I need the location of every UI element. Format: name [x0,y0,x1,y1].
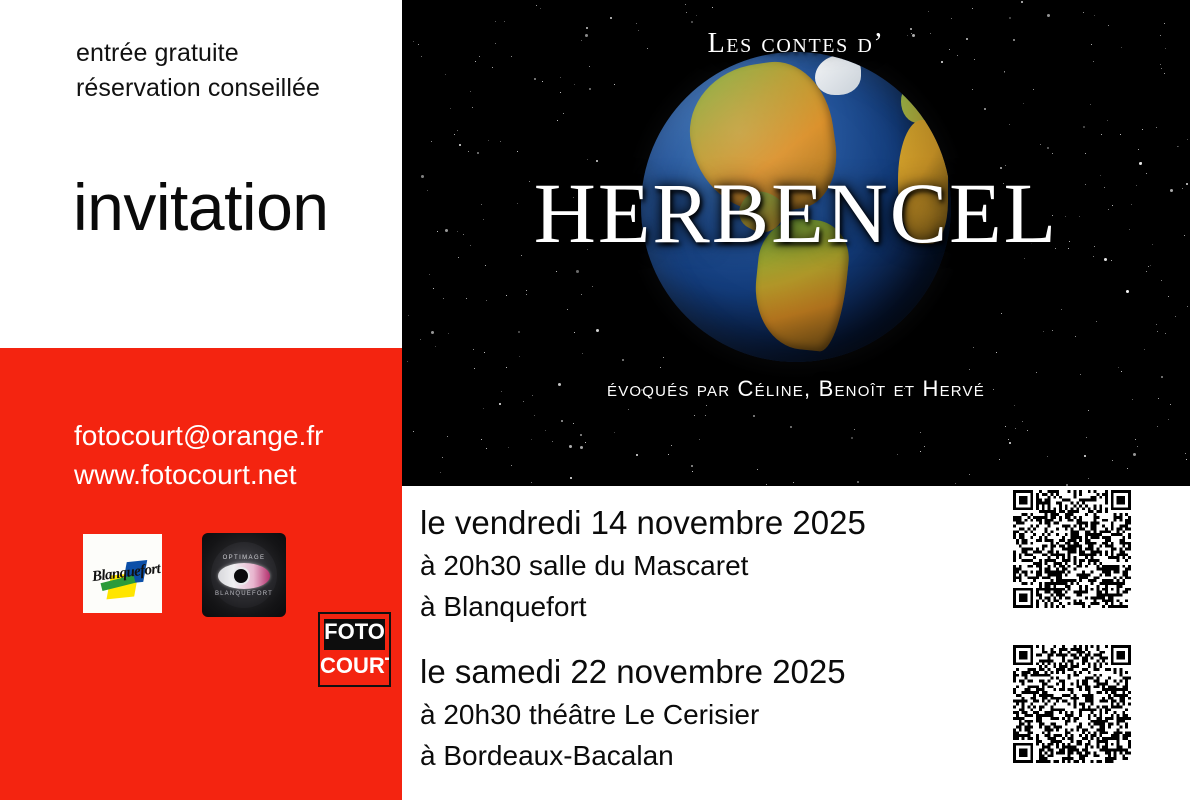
contact-text-block: fotocourt@orange.fr www.fotocourt.net [74,416,404,494]
qr-code-top-canvas [1013,490,1131,608]
qr-code-bottom-canvas [1013,645,1131,763]
qr-code-top[interactable] [1013,490,1131,608]
qr-code-bottom[interactable] [1013,645,1131,763]
hero-panel: Les contes d’ HERBENCEL évoqués par Céli… [402,0,1190,486]
hero-title: HERBENCEL [402,168,1190,258]
logo-camera-club: OPTIMAGE BLANQUEFORT [202,533,286,617]
fotocourt-line2: COURT [320,653,389,679]
camera-club-text-top: OPTIMAGE [202,555,286,561]
event-time-venue: à 20h30 salle du Mascaret [420,545,980,586]
website-link[interactable]: www.fotocourt.net [74,455,404,494]
event-date: le samedi 22 novembre 2025 [420,649,980,694]
email-link[interactable]: fotocourt@orange.fr [74,416,404,455]
contact-panel: fotocourt@orange.fr www.fotocourt.net [0,348,402,800]
event-city: à Blanquefort [420,586,980,627]
event-time-venue: à 20h30 théâtre Le Cerisier [420,694,980,735]
free-entry-line: entrée gratuite [76,36,406,71]
camera-club-text-bottom: BLANQUEFORT [202,591,286,597]
notice-panel: entrée gratuite réservation conseillée i… [0,0,402,348]
event-city: à Bordeaux-Bacalan [420,735,980,776]
notice-text-block: entrée gratuite réservation conseillée [76,36,406,106]
reservation-advised-line: réservation conseillée [76,71,406,106]
pupil-icon [232,567,250,585]
invitation-poster: entrée gratuite réservation conseillée i… [0,0,1190,800]
events-list: le vendredi 14 novembre 2025 à 20h30 sal… [420,500,980,776]
logo-blanquefort: Blanquefort [83,534,162,613]
hero-kicker: Les contes d’ [402,28,1190,60]
hero-byline: évoqués par Céline, Benoît et Hervé [402,376,1190,402]
page-title: invitation [73,170,329,244]
event-date: le vendredi 14 novembre 2025 [420,500,980,545]
event-item: le samedi 22 novembre 2025 à 20h30 théât… [420,649,980,776]
logo-fotocourt: FOTO COURT [318,612,391,687]
fotocourt-line1: FOTO [320,619,389,645]
event-item: le vendredi 14 novembre 2025 à 20h30 sal… [420,500,980,627]
